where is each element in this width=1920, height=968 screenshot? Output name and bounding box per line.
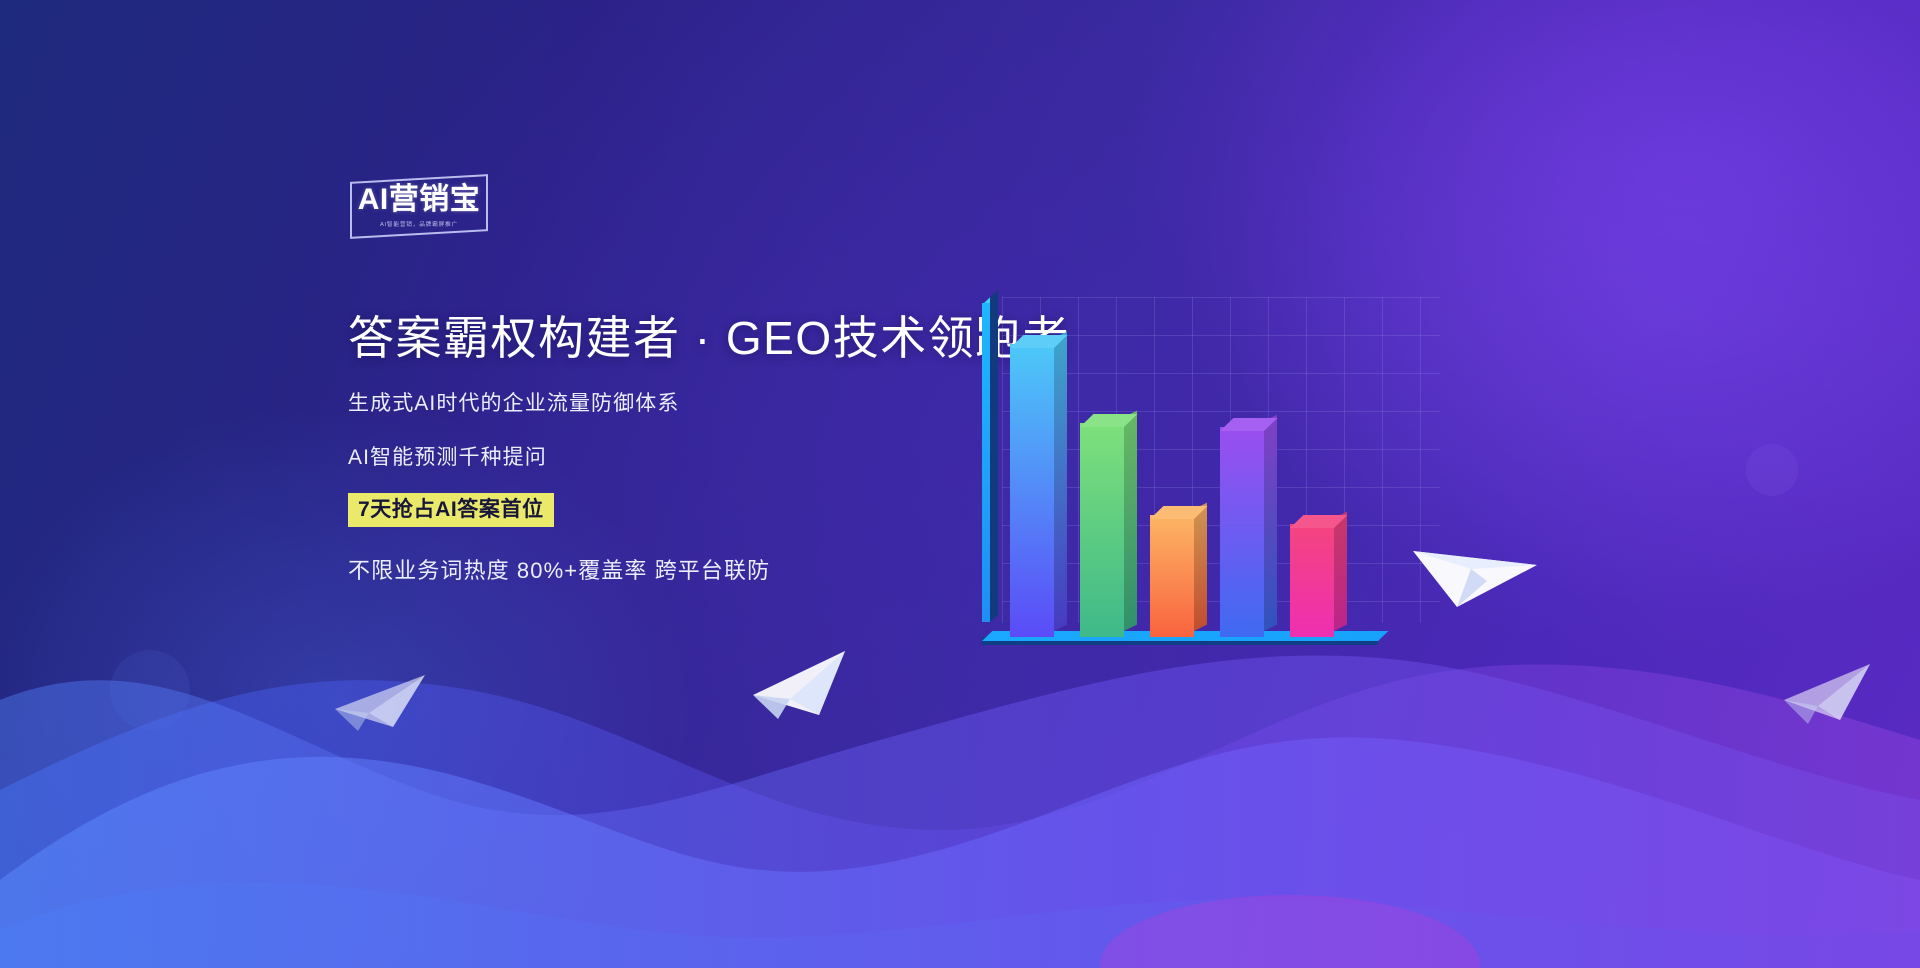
bar-chart	[980, 297, 1440, 667]
page-title: 答案霸权构建者 · GEO技术领跑者	[348, 313, 1068, 365]
bar-front-face	[1290, 524, 1334, 637]
paper-plane-icon-left	[325, 655, 435, 735]
bar-5	[1290, 524, 1334, 637]
bar-side-face	[1264, 415, 1277, 631]
hero-subtitle-2: AI智能预测千种提问	[348, 441, 1068, 471]
gridline-v	[1382, 297, 1383, 623]
bar-1	[1010, 344, 1054, 637]
hero-subtitle-3: 不限业务词热度 80%+覆盖率 跨平台联防	[348, 553, 1068, 585]
bar-side-face	[1124, 411, 1137, 631]
gridline-v	[1420, 297, 1421, 623]
paper-plane-icon-far-right	[1778, 652, 1878, 730]
paper-plane-icon-center	[745, 645, 855, 725]
highlight-badge: 7天抢占AI答案首位	[348, 493, 554, 527]
bar-front-face	[1150, 515, 1194, 637]
bar-front-face	[1080, 423, 1124, 637]
bar-4	[1220, 427, 1264, 637]
bar-front-face	[1010, 344, 1054, 637]
chart-y-axis	[982, 297, 994, 622]
gridline-v	[1078, 297, 1079, 623]
brand-logo[interactable]: AI营销宝 AI智能营销，品牌霸屏推广	[350, 178, 488, 235]
gridline-h	[1002, 297, 1440, 298]
logo-tagline: AI智能营销，品牌霸屏推广	[353, 222, 484, 228]
hero-banner: AI营销宝 AI智能营销，品牌霸屏推广 答案霸权构建者 · GEO技术领跑者 生…	[0, 0, 1920, 968]
bar-side-face	[1194, 503, 1207, 631]
bar-front-face	[1220, 427, 1264, 637]
gridline-v	[1002, 297, 1003, 623]
gridline-h	[1002, 335, 1440, 336]
hero-copy: 答案霸权构建者 · GEO技术领跑者 生成式AI时代的企业流量防御体系 AI智能…	[348, 313, 1068, 585]
gridline-h	[1002, 373, 1440, 374]
bar-side-face	[1054, 332, 1067, 631]
hero-badge-row: 7天抢占AI答案首位	[348, 493, 1068, 527]
hero-subtitle-1: 生成式AI时代的企业流量防御体系	[348, 387, 1068, 417]
bar-3	[1150, 515, 1194, 637]
logo-wordmark: AI营销宝	[350, 185, 488, 215]
bar-2	[1080, 423, 1124, 637]
bar-side-face	[1334, 512, 1347, 631]
gridline-h	[1002, 411, 1440, 412]
